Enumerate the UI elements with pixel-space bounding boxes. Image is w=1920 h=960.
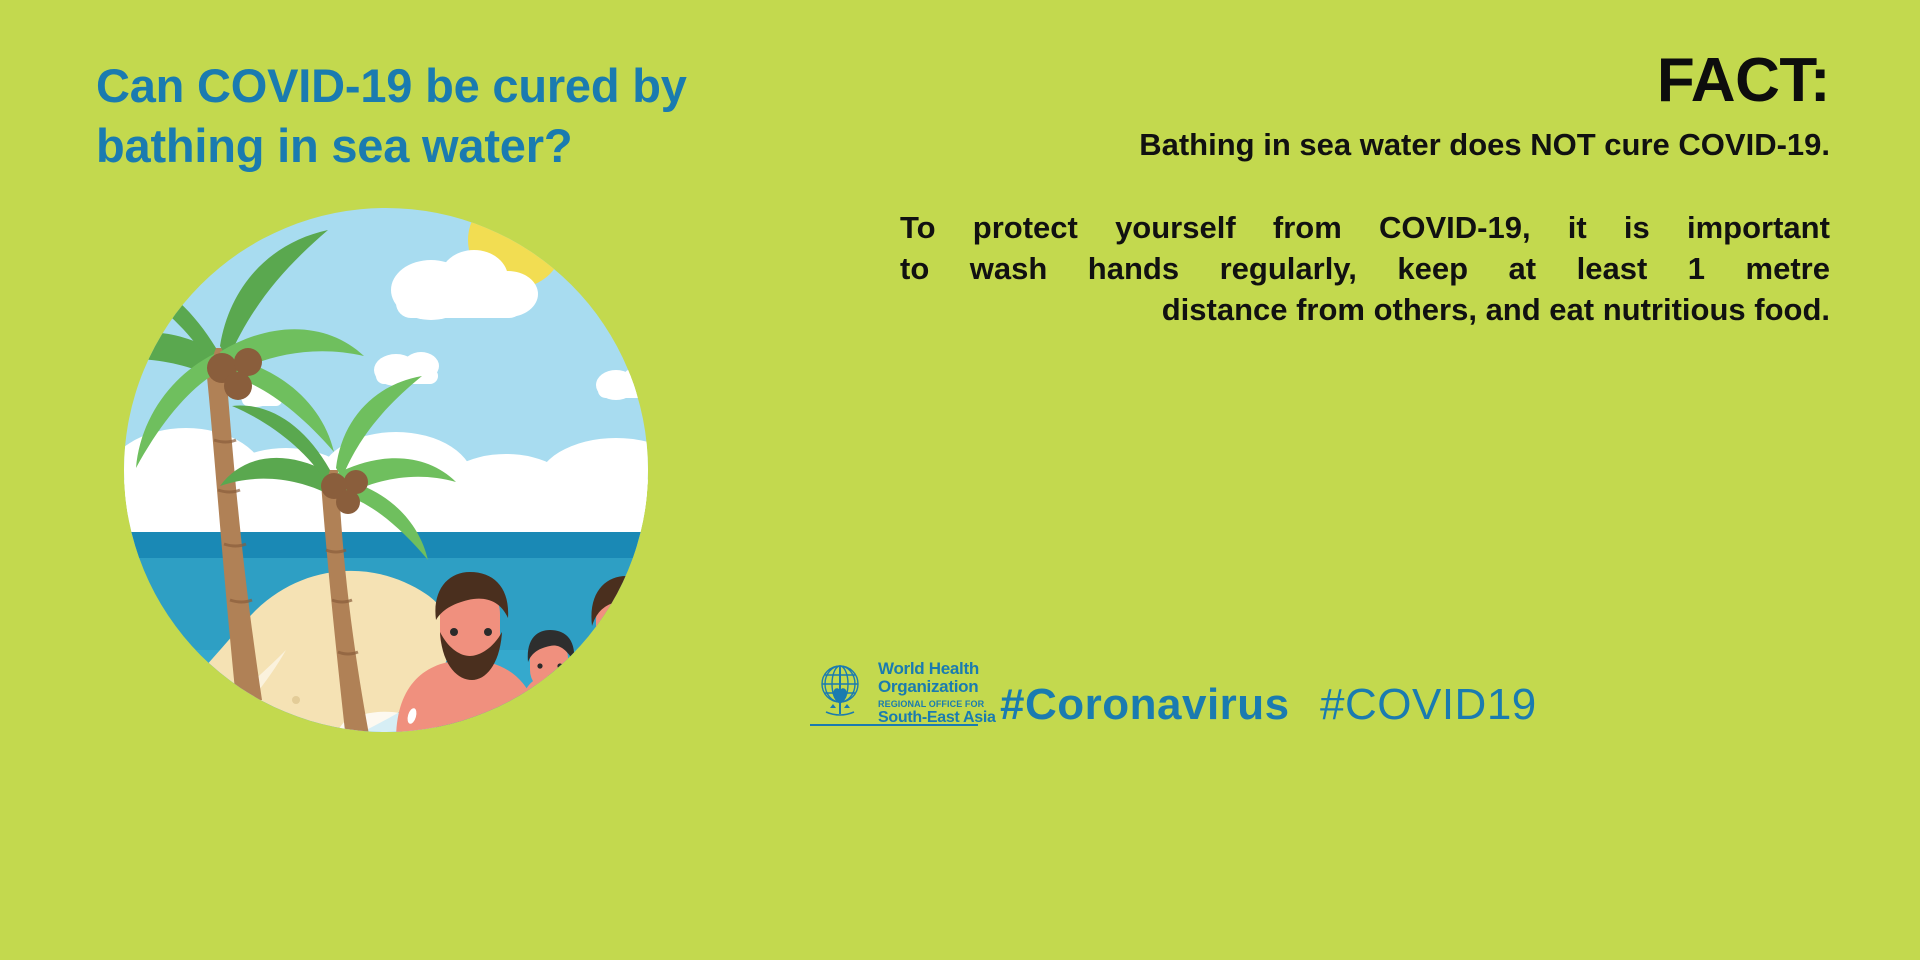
infographic-poster: Can COVID-19 be cured by bathing in sea … (0, 0, 1920, 960)
fact-lead-statement: Bathing in sea water does NOT cure COVID… (900, 126, 1830, 164)
hashtag-coronavirus[interactable]: #Coronavirus (1000, 680, 1290, 730)
advice-line-2: towashhandsregularly,keepatleast1metre (900, 249, 1830, 290)
starfish-icon (137, 684, 191, 735)
fact-heading: FACT: (900, 50, 1830, 112)
question-line-2: bathing in sea water? (96, 116, 856, 176)
advice-line-3: distance from others, and eat nutritious… (900, 290, 1830, 331)
fact-block: FACT: Bathing in sea water does NOT cure… (900, 50, 1830, 331)
sand-island (96, 571, 451, 820)
question-line-1: Can COVID-19 be cured by (96, 56, 856, 116)
cloud-bank (96, 428, 756, 550)
beach-illustration-svg (96, 180, 756, 850)
who-wordmark: World Health Organization REGIONAL OFFIC… (878, 658, 996, 726)
scene-circle (96, 180, 756, 850)
water-ripples (346, 734, 692, 779)
footer: World Health Organization REGIONAL OFFIC… (800, 650, 1860, 760)
question-headline: Can COVID-19 be cured by bathing in sea … (96, 56, 856, 176)
who-logo-divider (810, 724, 978, 726)
who-emblem-icon (810, 658, 870, 720)
who-logo: World Health Organization REGIONAL OFFIC… (810, 658, 996, 726)
beach-illustration (96, 180, 756, 850)
fact-advice-paragraph: ToprotectyourselffromCOVID-19,itisimport… (900, 208, 1830, 331)
who-name-line-2: Organization (878, 678, 996, 696)
hashtag-covid19[interactable]: #COVID19 (1320, 680, 1537, 730)
advice-line-1: ToprotectyourselffromCOVID-19,itisimport… (900, 208, 1830, 249)
who-name-line-1: World Health (878, 660, 996, 678)
